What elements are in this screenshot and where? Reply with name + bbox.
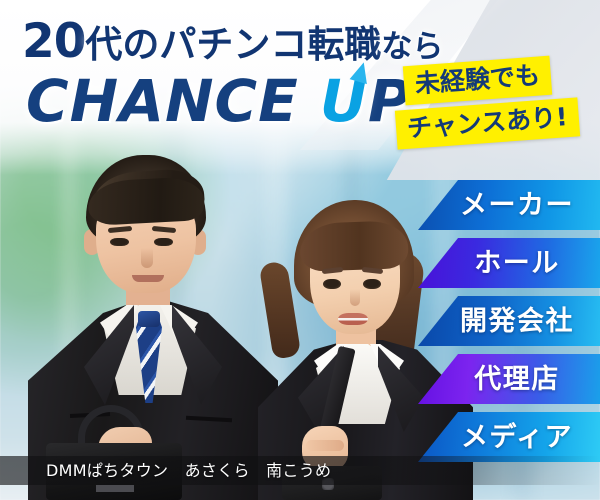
category-label-hall: ホール [458,250,560,277]
headline-lead-number: 20 [22,14,85,69]
headline-suffix: なら [381,29,443,65]
person-man-in-suit [28,155,278,500]
category-item-development-company[interactable]: 開発会社 [418,296,600,346]
logo-text-chance: CHANCE [26,67,320,135]
man-nose [141,248,153,268]
man-eye-left [110,238,129,246]
woman-eye-left [323,279,341,289]
category-item-agency[interactable]: 代理店 [418,354,600,404]
headline-lead-rest: 代の [85,23,159,66]
category-label-maker: メーカー [444,192,574,219]
category-item-media[interactable]: メディア [418,412,600,462]
caption-text: DMMぱちタウン あさくら 南こうめ [0,463,331,479]
category-label-media: メディア [445,424,573,451]
headline-keyword: パチンコ転職 [159,23,381,66]
woman-nose [350,289,360,306]
man-briefcase-studs [96,485,134,492]
category-item-maker[interactable]: メーカー [418,180,600,230]
man-tie-knot [138,311,160,327]
woman-mouth [338,313,368,325]
woman-eye-right [363,279,381,289]
logo-chance-up: CHANCE UP [26,72,412,130]
headline: 20代のパチンコ転職なら [22,18,443,65]
man-mouth [132,275,164,282]
category-item-hall[interactable]: ホール [418,238,600,288]
category-label-agency: 代理店 [458,366,560,393]
category-list: メーカー ホール 開発会社 代理店 メディア [418,180,600,470]
man-eye-right [154,238,173,246]
category-label-development-company: 開発会社 [444,308,574,335]
caption-bar: DMMぱちタウン あさくら 南こうめ [0,456,600,485]
advertisement-banner[interactable]: 20代のパチンコ転職なら CHANCE UP 未経験でも チャンスあり! メーカ… [0,0,600,500]
logo-letter-u: U [320,72,368,130]
woman-fringe [299,220,409,272]
woman-fingers [306,440,344,451]
